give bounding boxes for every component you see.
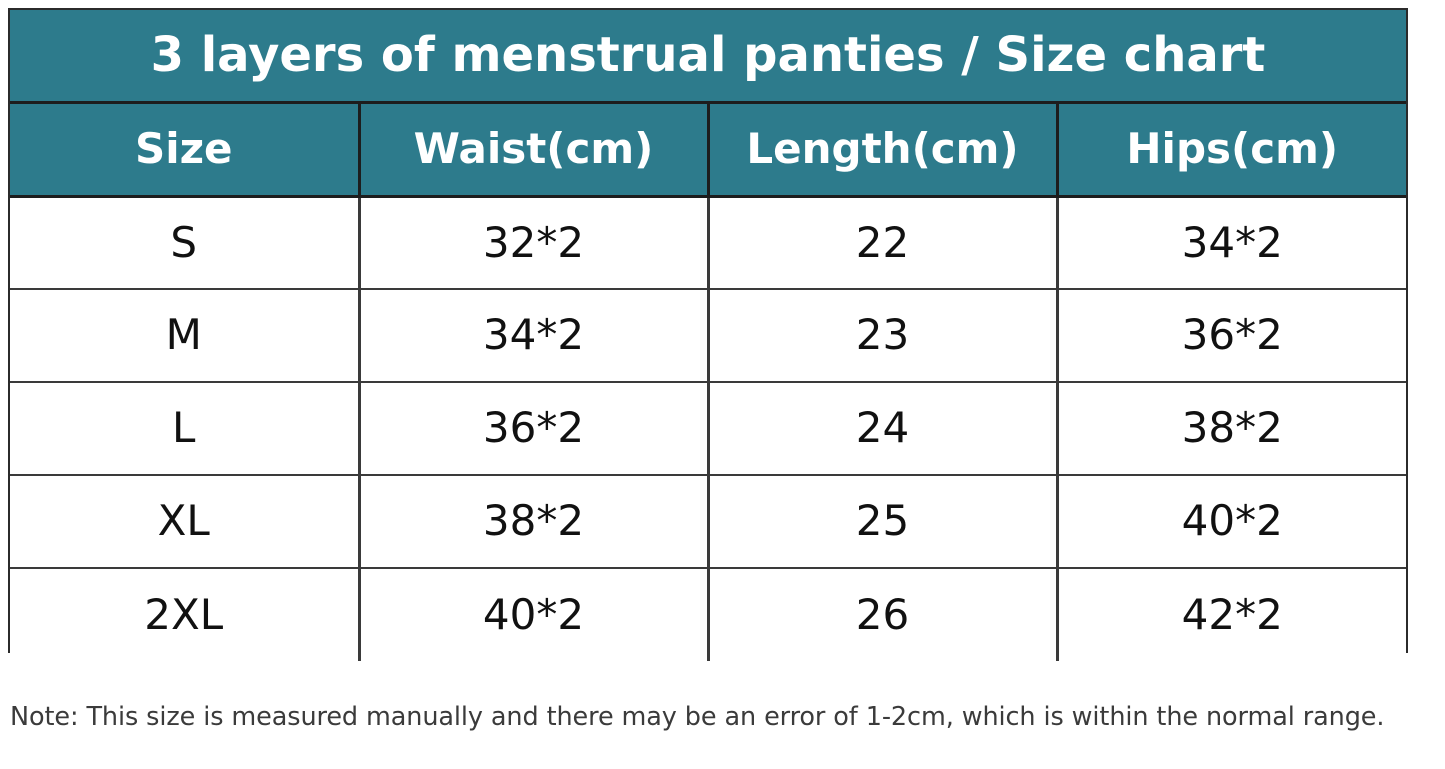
title-row: 3 layers of menstrual panties / Size cha… xyxy=(10,10,1406,102)
cell-waist: 34*2 xyxy=(359,289,708,382)
measurement-note: Note: This size is measured manually and… xyxy=(10,702,1435,733)
column-header-waist: Waist(cm) xyxy=(359,102,708,196)
cell-length: 25 xyxy=(708,475,1057,568)
size-chart-table: 3 layers of menstrual panties / Size cha… xyxy=(10,10,1406,661)
cell-size: M xyxy=(10,289,359,382)
table-row: 2XL 40*2 26 42*2 xyxy=(10,568,1406,661)
cell-size: XL xyxy=(10,475,359,568)
cell-hips: 34*2 xyxy=(1057,196,1406,289)
cell-hips: 36*2 xyxy=(1057,289,1406,382)
table-row: L 36*2 24 38*2 xyxy=(10,382,1406,475)
table-row: XL 38*2 25 40*2 xyxy=(10,475,1406,568)
cell-length: 22 xyxy=(708,196,1057,289)
cell-size: L xyxy=(10,382,359,475)
cell-hips: 42*2 xyxy=(1057,568,1406,661)
cell-waist: 36*2 xyxy=(359,382,708,475)
cell-length: 23 xyxy=(708,289,1057,382)
cell-hips: 40*2 xyxy=(1057,475,1406,568)
cell-size: S xyxy=(10,196,359,289)
chart-title: 3 layers of menstrual panties / Size cha… xyxy=(10,10,1406,102)
header-row: Size Waist(cm) Length(cm) Hips(cm) xyxy=(10,102,1406,196)
size-chart-page: 3 layers of menstrual panties / Size cha… xyxy=(0,0,1445,769)
cell-hips: 38*2 xyxy=(1057,382,1406,475)
column-header-hips: Hips(cm) xyxy=(1057,102,1406,196)
cell-waist: 32*2 xyxy=(359,196,708,289)
column-header-size: Size xyxy=(10,102,359,196)
size-chart-table-container: 3 layers of menstrual panties / Size cha… xyxy=(8,8,1408,653)
cell-length: 24 xyxy=(708,382,1057,475)
cell-size: 2XL xyxy=(10,568,359,661)
column-header-length: Length(cm) xyxy=(708,102,1057,196)
table-row: M 34*2 23 36*2 xyxy=(10,289,1406,382)
cell-waist: 40*2 xyxy=(359,568,708,661)
table-row: S 32*2 22 34*2 xyxy=(10,196,1406,289)
cell-waist: 38*2 xyxy=(359,475,708,568)
cell-length: 26 xyxy=(708,568,1057,661)
